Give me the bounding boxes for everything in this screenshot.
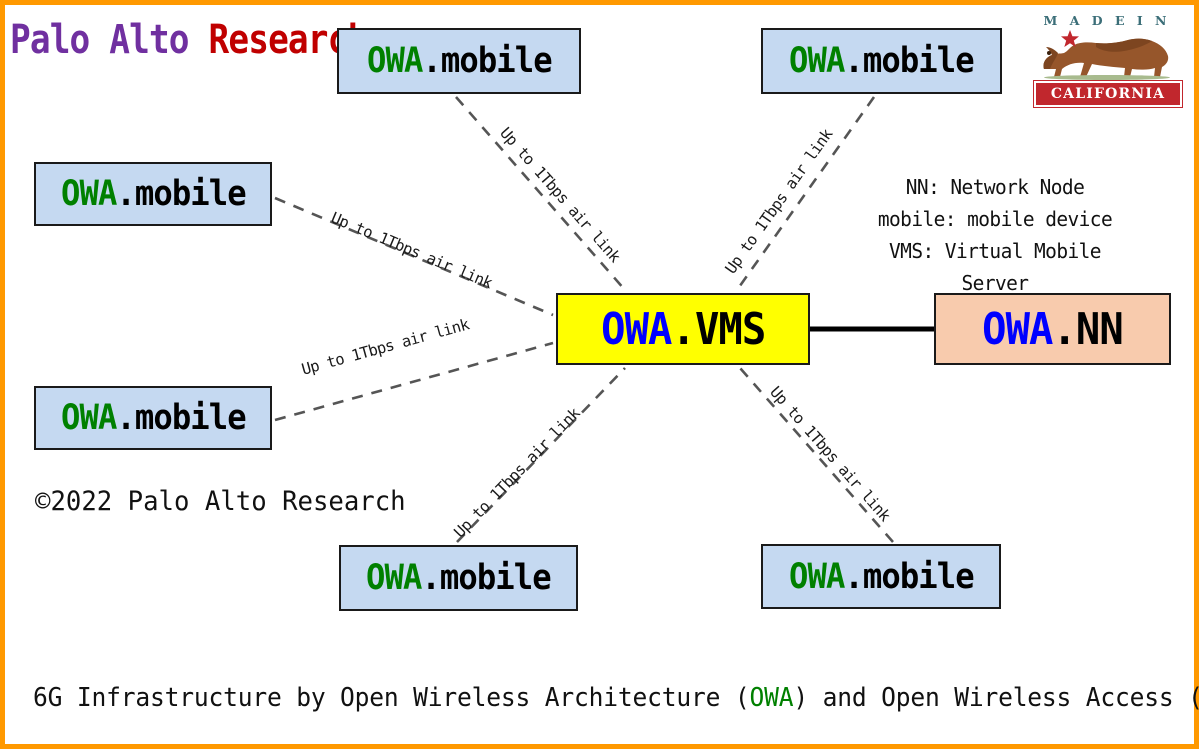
node-owa-nn[interactable]: OWA.NN bbox=[934, 293, 1171, 365]
node-label: OWA.NN bbox=[982, 304, 1123, 355]
diagram-stage: Palo Alto Research M A D E I N CALIF bbox=[5, 5, 1194, 744]
air-link-top-right bbox=[737, 97, 874, 290]
diagram-canvas: Palo Alto Research M A D E I N CALIF bbox=[0, 0, 1199, 749]
node-label: OWA.VMS bbox=[601, 304, 765, 355]
air-link-bottom-right bbox=[740, 368, 893, 542]
air-link-left-lower bbox=[275, 343, 553, 420]
link-lines bbox=[5, 5, 1194, 744]
air-link-top-left bbox=[456, 97, 625, 290]
node-owa-vms[interactable]: OWA.VMS bbox=[556, 293, 810, 365]
